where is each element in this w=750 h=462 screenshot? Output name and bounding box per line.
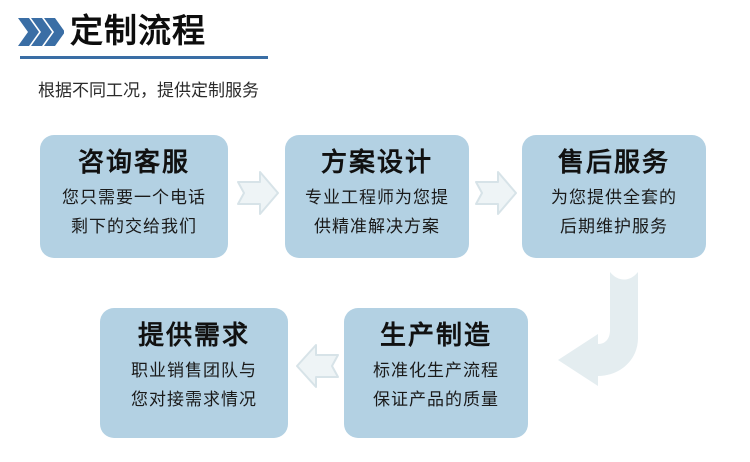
flow-step-description: 为您提供全套的 后期维护服务 <box>551 184 677 242</box>
flow-step-card[interactable]: 提供需求 职业销售团队与 您对接需求情况 <box>100 308 288 438</box>
flow-step-description: 专业工程师为您提 供精准解决方案 <box>305 184 449 242</box>
header-underline <box>20 56 268 59</box>
flow-step-description-line: 供精准解决方案 <box>305 213 449 242</box>
flow-step-description-line: 专业工程师为您提 <box>305 184 449 213</box>
flow-step-title: 生产制造 <box>380 319 492 353</box>
custom-process-infographic: 定制流程 根据不同工况，提供定制服务 咨询客服 您只需要一个电话 剩下的交给我们… <box>0 0 750 462</box>
page-title: 定制流程 <box>70 10 206 52</box>
arrow-uturn-down-left-icon <box>548 268 664 390</box>
flow-step-description-line: 剩下的交给我们 <box>62 213 206 242</box>
flow-step-card[interactable]: 售后服务 为您提供全套的 后期维护服务 <box>522 135 706 258</box>
page-header: 定制流程 <box>18 10 318 62</box>
page-subtitle: 根据不同工况，提供定制服务 <box>38 79 259 103</box>
flow-step-description-line: 标准化生产流程 <box>373 357 499 386</box>
flow-step-description-line: 保证产品的质量 <box>373 386 499 415</box>
triple-chevron-right-icon <box>18 16 64 48</box>
flow-step-title: 售后服务 <box>558 146 670 180</box>
flow-step-title: 方案设计 <box>321 146 433 180</box>
flow-step-description: 标准化生产流程 保证产品的质量 <box>373 357 499 415</box>
arrow-left-icon <box>294 340 340 392</box>
flow-step-card[interactable]: 咨询客服 您只需要一个电话 剩下的交给我们 <box>40 135 228 258</box>
flow-step-description-line: 职业销售团队与 <box>131 357 257 386</box>
flow-step-card[interactable]: 方案设计 专业工程师为您提 供精准解决方案 <box>285 135 469 258</box>
arrow-right-icon <box>474 168 518 218</box>
flow-step-description-line: 您对接需求情况 <box>131 386 257 415</box>
flow-step-card[interactable]: 生产制造 标准化生产流程 保证产品的质量 <box>344 308 528 438</box>
flow-step-description-line: 后期维护服务 <box>551 213 677 242</box>
flow-step-title: 提供需求 <box>138 319 250 353</box>
arrow-right-icon <box>236 168 280 218</box>
flow-step-description: 您只需要一个电话 剩下的交给我们 <box>62 184 206 242</box>
flow-step-description-line: 为您提供全套的 <box>551 184 677 213</box>
flow-step-description-line: 您只需要一个电话 <box>62 184 206 213</box>
flow-step-description: 职业销售团队与 您对接需求情况 <box>131 357 257 415</box>
flow-step-title: 咨询客服 <box>78 146 190 180</box>
